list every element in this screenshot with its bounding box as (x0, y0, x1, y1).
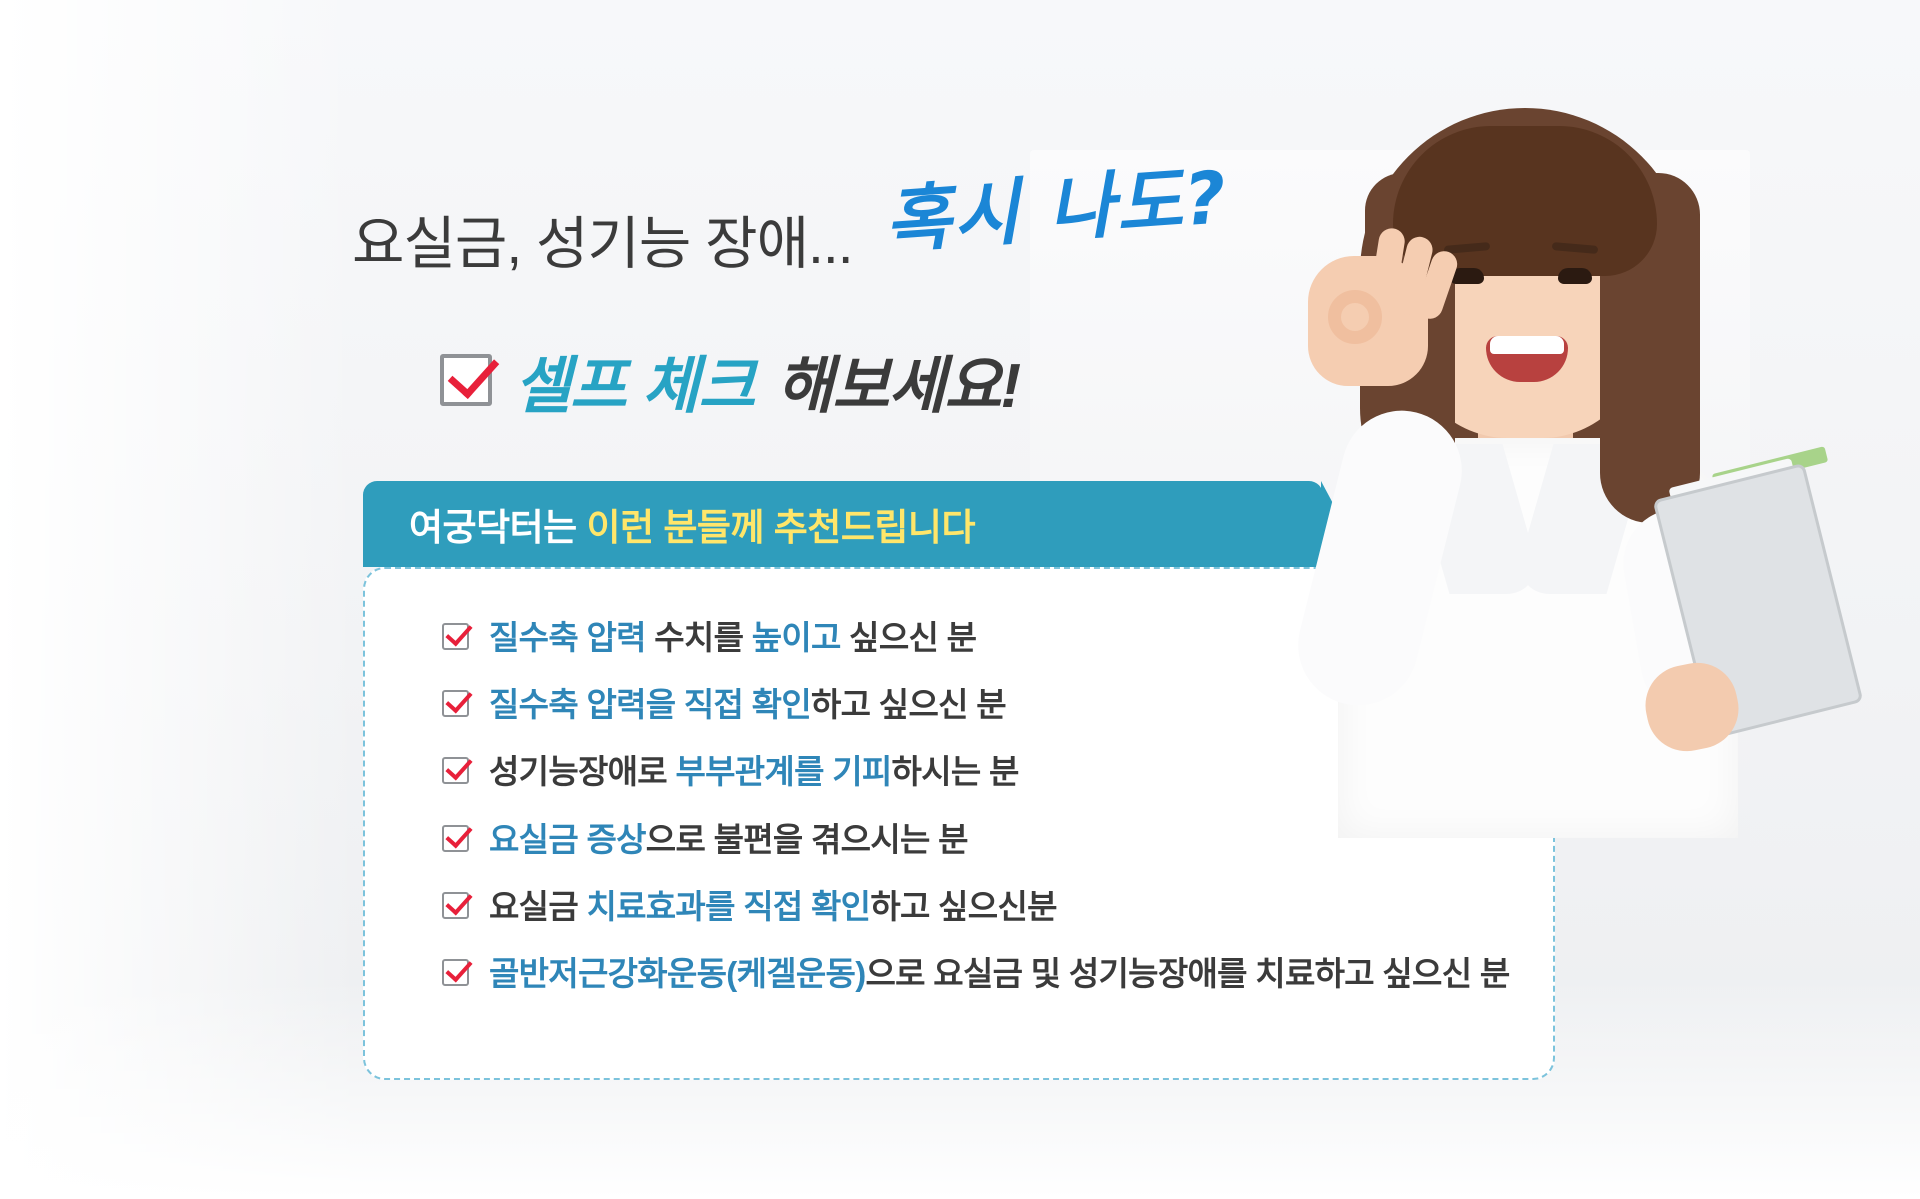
list-item-text-part: 싶으신 분 (841, 619, 977, 656)
checkbox-checked-icon (442, 959, 469, 986)
checkbox-checked-icon (442, 825, 469, 852)
list-item-text-part: 질수축 압력 (489, 619, 646, 656)
checkbox-checked-icon (442, 757, 469, 784)
list-item-text-part: 요실금 (489, 888, 586, 925)
headline-strong: 셀프 체크 (514, 335, 754, 425)
checkbox-checked-icon (442, 892, 469, 919)
list-item-text-part: 높이고 (752, 619, 841, 656)
list-item-text-part: 하고 싶으신분 (870, 888, 1056, 925)
list-item-text-part: 하시는 분 (892, 753, 1019, 790)
ribbon-highlight: 이런 분들께 추천드립니다 (586, 507, 975, 548)
list-item-text-part: 성기능장애로 (489, 753, 675, 790)
headline-line-1: 요실금, 성기능 장애... (352, 198, 853, 280)
list-item: 골반저근강화운동(케겔운동)으로 요실금 및 성기능장애를 치료하고 싶으신 분 (442, 953, 1513, 995)
list-item-label: 요실금 치료효과를 직접 확인하고 싶으신분 (489, 886, 1057, 928)
list-item-label: 질수축 압력을 직접 확인하고 싶으신 분 (489, 684, 1006, 726)
list-item-text-part: 골반저근강화운동(케겔운동) (489, 955, 866, 992)
promo-banner: 요실금, 성기능 장애... 혹시 나도? 셀프 체크 해보세요! 여궁닥터는 … (0, 0, 1920, 1199)
list-item-label: 성기능장애로 부부관계를 기피하시는 분 (489, 751, 1019, 793)
list-item-text-part: 요실금 증상 (489, 821, 646, 858)
checkbox-checked-icon (442, 623, 469, 650)
list-item: 요실금 치료효과를 직접 확인하고 싶으신분 (442, 886, 1513, 928)
list-item-text-part: 수치를 (646, 619, 752, 656)
checkbox-checked-icon (442, 690, 469, 717)
ribbon-text: 여궁닥터는 이런 분들께 추천드립니다 (409, 497, 975, 551)
list-item: 요실금 증상으로 불편을 겪으시는 분 (442, 819, 1513, 861)
list-item-label: 질수축 압력 수치를 높이고 싶으신 분 (489, 617, 976, 659)
headline-rest: 해보세요! (776, 335, 1020, 425)
list-item: 성기능장애로 부부관계를 기피하시는 분 (442, 751, 1513, 793)
list-item-text-part: 부부관계를 기피 (675, 753, 891, 790)
headline-line-2: 셀프 체크 해보세요! (440, 335, 1020, 425)
list-item-text-part: 으로 요실금 및 성기능장애를 치료하고 싶으신 분 (866, 955, 1510, 992)
list-item-text-part: 하고 싶으신 분 (811, 686, 1006, 723)
recommend-ribbon: 여궁닥터는 이런 분들께 추천드립니다 (363, 481, 1323, 567)
list-item-text-part: 질수축 압력을 직접 확인 (489, 686, 811, 723)
list-item: 질수축 압력을 직접 확인하고 싶으신 분 (442, 684, 1513, 726)
checkbox-checked-icon (440, 354, 492, 406)
list-item-label: 골반저근강화운동(케겔운동)으로 요실금 및 성기능장애를 치료하고 싶으신 분 (489, 953, 1510, 995)
list-item-text-part: 으로 불편을 겪으시는 분 (646, 821, 968, 858)
recommend-card: 질수축 압력 수치를 높이고 싶으신 분질수축 압력을 직접 확인하고 싶으신 … (363, 567, 1555, 1080)
ribbon-prefix: 여궁닥터는 (409, 507, 586, 548)
list-item: 질수축 압력 수치를 높이고 싶으신 분 (442, 617, 1513, 659)
recommend-list: 질수축 압력 수치를 높이고 싶으신 분질수축 압력을 직접 확인하고 싶으신 … (442, 617, 1513, 995)
ribbon-tail (1321, 481, 1367, 567)
list-item-text-part: 치료효과를 직접 확인 (586, 888, 870, 925)
list-item-label: 요실금 증상으로 불편을 겪으시는 분 (489, 819, 968, 861)
